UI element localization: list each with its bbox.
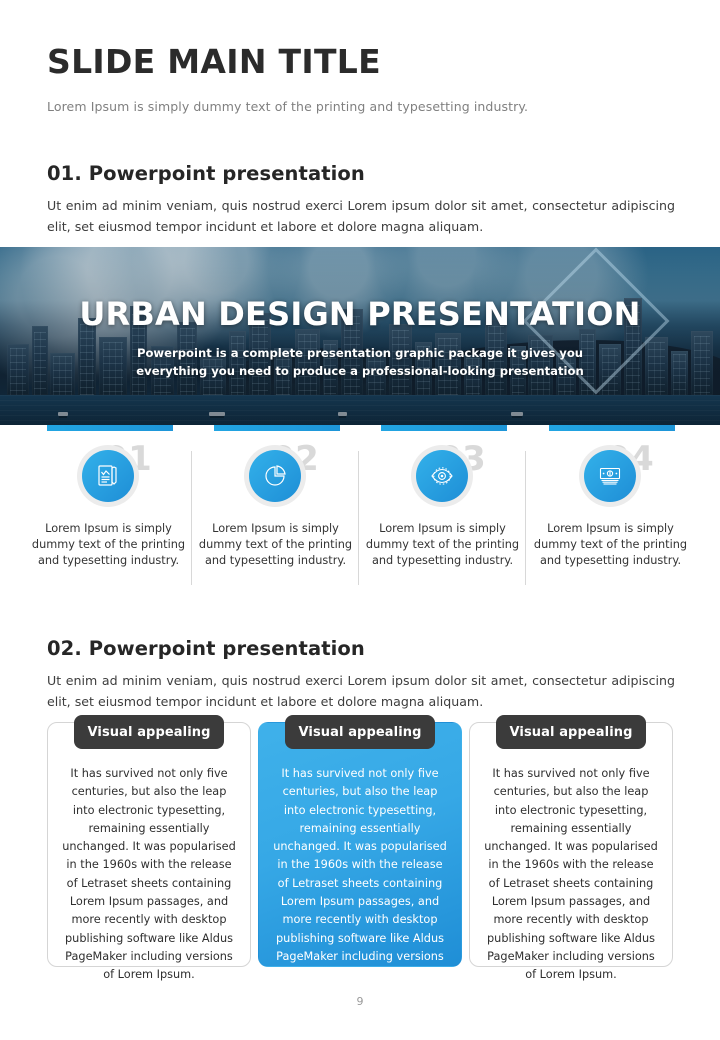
feature-text: Lorem Ipsum is simply dummy text of the … <box>528 521 693 569</box>
section-01-heading: 01. Powerpoint presentation <box>47 162 675 185</box>
feature-top-bar <box>381 425 507 431</box>
card-tab-label: Visual appealing <box>496 715 646 749</box>
feature-text: Lorem Ipsum is simply dummy text of the … <box>360 521 525 569</box>
feature-divider <box>358 451 359 585</box>
feature-top-bar <box>549 425 675 431</box>
feature-text: Lorem Ipsum is simply dummy text of the … <box>193 521 358 569</box>
feature-icon-ring <box>244 445 306 507</box>
banknote-icon <box>584 450 636 502</box>
card-body-text: It has survived not only five centuries,… <box>482 765 660 985</box>
card-tab-label: Visual appealing <box>74 715 224 749</box>
feature-text: Lorem Ipsum is simply dummy text of the … <box>26 521 191 569</box>
title-block: SLIDE MAIN TITLE Lorem Ipsum is simply d… <box>47 44 687 114</box>
feature-divider <box>191 451 192 585</box>
page-subtitle: Lorem Ipsum is simply dummy text of the … <box>47 99 687 114</box>
feature-card-2-highlighted[interactable]: Visual appealing It has survived not onl… <box>258 722 462 967</box>
feature-top-bar <box>47 425 173 431</box>
feature-icon-ring <box>579 445 641 507</box>
hero-subtitle: Powerpoint is a complete presentation gr… <box>110 345 610 381</box>
page-number: 9 <box>0 995 720 1008</box>
feature-icon-ring <box>411 445 473 507</box>
feature-top-bar <box>214 425 340 431</box>
card-tab-label: Visual appealing <box>285 715 435 749</box>
feature-item-02[interactable]: 02 Lorem Ipsum is simply dummy text of t… <box>193 425 358 610</box>
card-body-text: It has survived not only five centuries,… <box>271 765 449 985</box>
pie-chart-icon <box>249 450 301 502</box>
hero-text-block: URBAN DESIGN PRESENTATION Powerpoint is … <box>0 247 720 425</box>
section-02: 02. Powerpoint presentation Ut enim ad m… <box>47 637 675 713</box>
feature-row: 01 Lorem Ipsum is simply dummy text of t… <box>0 425 720 610</box>
feature-item-04[interactable]: 04 Lorem Ipsum is simply dummy text <box>528 425 693 610</box>
feature-divider <box>525 451 526 585</box>
section-01: 01. Powerpoint presentation Ut enim ad m… <box>47 162 675 238</box>
hero-banner: URBAN DESIGN PRESENTATION Powerpoint is … <box>0 247 720 425</box>
slide: SLIDE MAIN TITLE Lorem Ipsum is simply d… <box>0 0 720 1040</box>
page-title: SLIDE MAIN TITLE <box>47 44 687 80</box>
section-02-heading: 02. Powerpoint presentation <box>47 637 675 660</box>
section-01-body: Ut enim ad minim veniam, quis nostrud ex… <box>47 196 675 238</box>
card-body-text: It has survived not only five centuries,… <box>60 765 238 985</box>
feature-card-1[interactable]: Visual appealing It has survived not onl… <box>47 722 251 967</box>
feature-icon-ring <box>77 445 139 507</box>
feature-card-3[interactable]: Visual appealing It has survived not onl… <box>469 722 673 967</box>
hero-title: URBAN DESIGN PRESENTATION <box>79 295 640 333</box>
feature-item-03[interactable]: 03 Lorem Ipsum is simply dummy text of t… <box>360 425 525 610</box>
document-chart-icon <box>82 450 134 502</box>
section-02-body: Ut enim ad minim veniam, quis nostrud ex… <box>47 671 675 713</box>
card-row: Visual appealing It has survived not onl… <box>0 722 720 967</box>
eye-icon <box>416 450 468 502</box>
feature-item-01[interactable]: 01 Lorem Ipsum is simply dummy text of t… <box>26 425 191 610</box>
